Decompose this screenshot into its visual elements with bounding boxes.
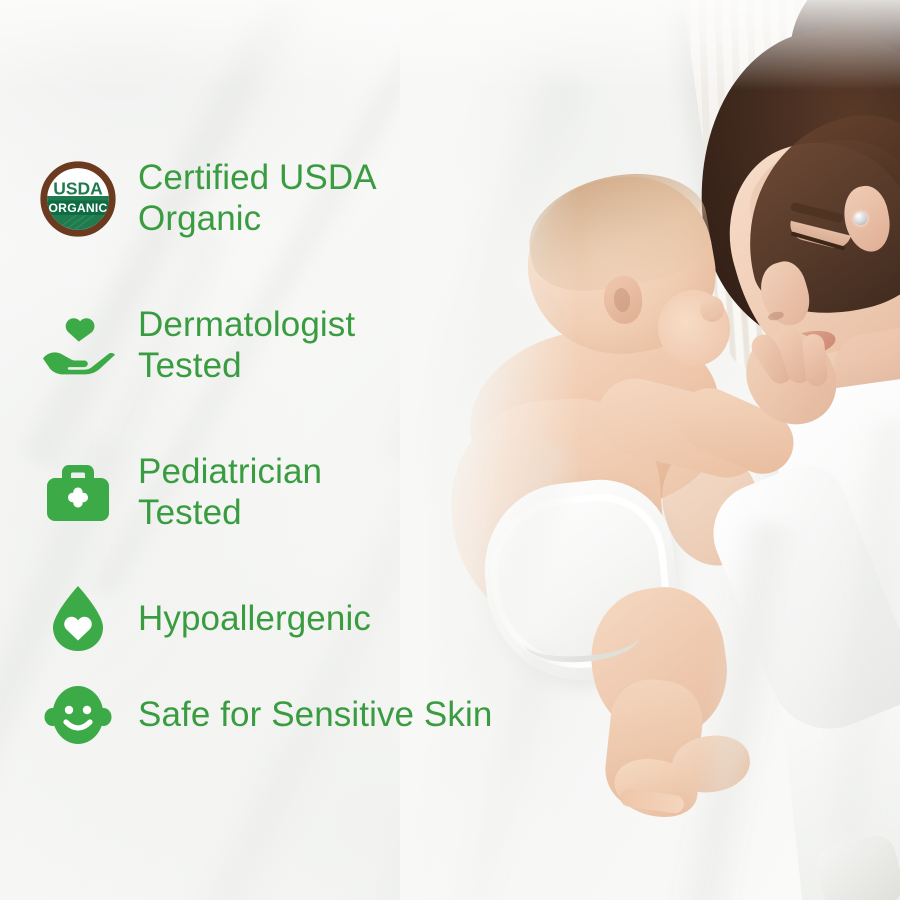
feature-list: USDA ORGANIC Certified USDA Organic Derm… [0,0,620,900]
feature-label: Dermatologist Tested [138,305,355,387]
feature-label: Safe for Sensitive Skin [138,695,492,736]
feature-row-pediatrician-tested: Pediatrician Tested [40,452,322,534]
feature-label: Pediatrician Tested [138,452,322,534]
feature-row-certified-usda-organic: USDA ORGANIC Certified USDA Organic [40,158,377,240]
water-drop-heart-icon [40,584,116,654]
mother-earring [854,212,867,225]
baby-nose [700,296,724,322]
feature-row-safe-for-sensitive-skin: Safe for Sensitive Skin [40,684,492,746]
medical-bag-icon [40,462,116,524]
feature-label: Hypoallergenic [138,599,371,640]
seal-top-text: USDA [53,178,103,198]
feature-row-dermatologist-tested: Dermatologist Tested [40,305,355,387]
seal-bottom-text: ORGANIC [49,201,108,215]
baby-face-smile-icon [40,684,116,746]
feature-label: Certified USDA Organic [138,158,377,240]
hand-holding-heart-icon [40,314,116,378]
usda-organic-seal-icon: USDA ORGANIC [40,159,116,239]
feature-row-hypoallergenic: Hypoallergenic [40,584,371,654]
product-feature-graphic: USDA ORGANIC Certified USDA Organic Derm… [0,0,900,900]
